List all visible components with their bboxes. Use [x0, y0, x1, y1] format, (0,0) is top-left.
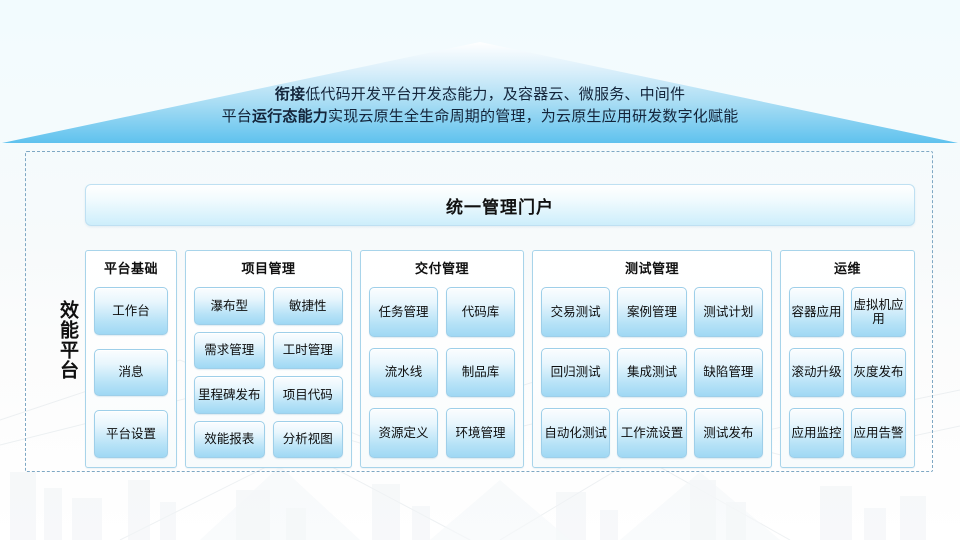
capability-cell[interactable]: 集成测试	[617, 348, 686, 398]
roof-line-2-rest: 实现云原生全生命周期的管理，为云原生应用研发数字化赋能	[328, 108, 738, 125]
capability-cell[interactable]: 消息	[94, 349, 168, 397]
capability-cell[interactable]: 工作台	[94, 287, 168, 335]
capability-cell[interactable]: 应用监控	[789, 408, 844, 458]
column-cell-grid: 工作台 消息 平台设置	[94, 287, 168, 458]
column-cell-grid: 瀑布型 敏捷性 需求管理 工时管理 里程碑发布 项目代码 效能报表 分析视图	[194, 287, 343, 458]
diagram-canvas: 衔接低代码开发平台开发态能力，及容器云、微服务、中间件 平台运行态能力实现云原生…	[0, 0, 960, 540]
capability-cell[interactable]: 缺陷管理	[694, 348, 763, 398]
column-title: 交付管理	[369, 258, 515, 277]
capability-cell[interactable]: 需求管理	[194, 332, 265, 370]
capability-cell[interactable]: 瀑布型	[194, 287, 265, 325]
roof-line-2-bold: 运行态能力	[252, 108, 328, 125]
roof-line-1: 衔接低代码开发平台开发态能力，及容器云、微服务、中间件	[0, 84, 960, 106]
column-title: 运维	[789, 258, 906, 277]
roof-line-2: 平台运行态能力实现云原生全生命周期的管理，为云原生应用研发数字化赋能	[0, 106, 960, 128]
capability-cell[interactable]: 自动化测试	[541, 408, 610, 458]
roof-line-2-pre: 平台	[222, 108, 252, 125]
capability-cell[interactable]: 敏捷性	[273, 287, 344, 325]
column-cell-grid: 任务管理 代码库 流水线 制品库 资源定义 环境管理	[369, 287, 515, 458]
capability-cell[interactable]: 资源定义	[369, 408, 438, 458]
column-operations: 运维 容器应用 虚拟机应用 滚动升级 灰度发布 应用监控 应用告警	[780, 250, 915, 468]
column-project-management: 项目管理 瀑布型 敏捷性 需求管理 工时管理 里程碑发布 项目代码 效能报表 分…	[185, 250, 352, 468]
capability-cell[interactable]: 虚拟机应用	[851, 287, 906, 337]
capability-cell[interactable]: 回归测试	[541, 348, 610, 398]
capability-cell[interactable]: 代码库	[446, 287, 515, 337]
column-delivery-management: 交付管理 任务管理 代码库 流水线 制品库 资源定义 环境管理	[360, 250, 524, 468]
platform-vertical-label: 效能平台	[33, 300, 77, 380]
capability-cell[interactable]: 制品库	[446, 348, 515, 398]
capability-cell[interactable]: 项目代码	[273, 376, 344, 414]
capability-cell[interactable]: 流水线	[369, 348, 438, 398]
capability-cell[interactable]: 里程碑发布	[194, 376, 265, 414]
roof-line-1-rest: 低代码开发平台开发态能力，及容器云、微服务、中间件	[305, 86, 685, 103]
unified-portal-banner[interactable]: 统一管理门户	[85, 184, 915, 226]
capability-cell[interactable]: 工作流设置	[617, 408, 686, 458]
capability-cell[interactable]: 分析视图	[273, 421, 344, 459]
capability-cell[interactable]: 滚动升级	[789, 348, 844, 398]
column-title: 平台基础	[94, 258, 168, 277]
capability-cell[interactable]: 交易测试	[541, 287, 610, 337]
capability-cell[interactable]: 案例管理	[617, 287, 686, 337]
column-title: 项目管理	[194, 258, 343, 277]
capability-cell[interactable]: 灰度发布	[851, 348, 906, 398]
column-platform-basics: 平台基础 工作台 消息 平台设置	[85, 250, 177, 468]
capability-cell[interactable]: 应用告警	[851, 408, 906, 458]
column-cell-grid: 容器应用 虚拟机应用 滚动升级 灰度发布 应用监控 应用告警	[789, 287, 906, 458]
roof-banner-text: 衔接低代码开发平台开发态能力，及容器云、微服务、中间件 平台运行态能力实现云原生…	[0, 84, 960, 128]
capability-columns: 平台基础 工作台 消息 平台设置 项目管理 瀑布型 敏捷性 需求管理 工时管理 …	[85, 250, 915, 468]
roof-line-1-bold: 衔接	[275, 86, 305, 103]
column-title: 测试管理	[541, 258, 763, 277]
capability-cell[interactable]: 环境管理	[446, 408, 515, 458]
capability-cell[interactable]: 测试计划	[694, 287, 763, 337]
column-test-management: 测试管理 交易测试 案例管理 测试计划 回归测试 集成测试 缺陷管理 自动化测试…	[532, 250, 772, 468]
capability-cell[interactable]: 效能报表	[194, 421, 265, 459]
capability-cell[interactable]: 容器应用	[789, 287, 844, 337]
column-cell-grid: 交易测试 案例管理 测试计划 回归测试 集成测试 缺陷管理 自动化测试 工作流设…	[541, 287, 763, 458]
capability-cell[interactable]: 测试发布	[694, 408, 763, 458]
capability-cell[interactable]: 平台设置	[94, 410, 168, 458]
capability-cell[interactable]: 工时管理	[273, 332, 344, 370]
unified-portal-title: 统一管理门户	[446, 193, 554, 218]
capability-cell[interactable]: 任务管理	[369, 287, 438, 337]
